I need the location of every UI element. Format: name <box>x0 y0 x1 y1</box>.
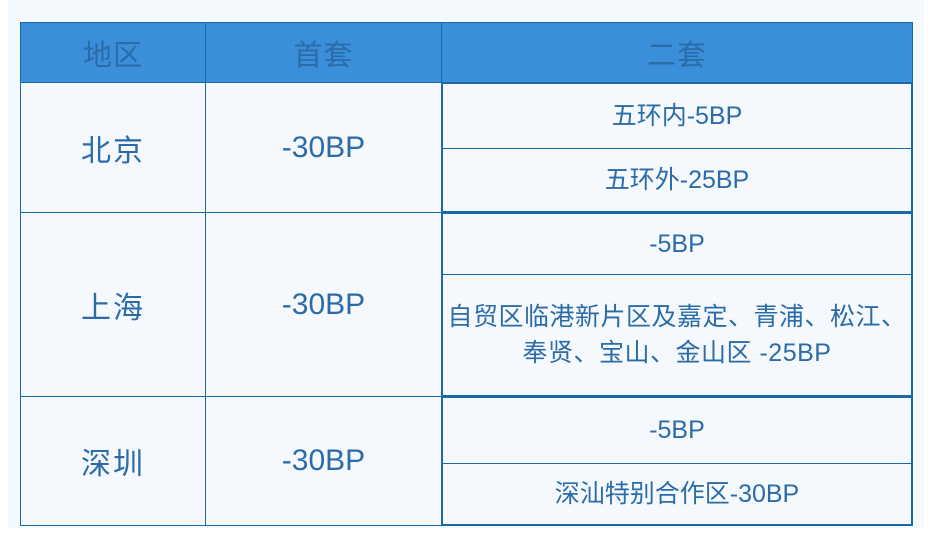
sub-row: 五环内-5BP <box>443 84 912 149</box>
sub-table-shenzhen: -5BP 深汕特别合作区-30BP <box>442 397 912 525</box>
sub-cell-beijing-inside-5th-ring: 五环内-5BP <box>443 84 912 149</box>
sub-cell-shenzhen-shenshan-zone: 深汕特别合作区-30BP <box>443 464 912 525</box>
table-header-row: 地区 首套 二套 <box>21 23 913 83</box>
table-row: 深圳 -30BP -5BP 深汕特别合作区-30BP <box>21 397 913 526</box>
sub-row: 深汕特别合作区-30BP <box>443 464 912 525</box>
sub-cell-shanghai-general: -5BP <box>443 214 912 275</box>
sub-row: 五环外-25BP <box>443 149 912 212</box>
cell-region-shanghai: 上海 <box>21 213 206 397</box>
table-body: 北京 -30BP 五环内-5BP 五环外-25BP 上海 -30BP <box>21 83 913 526</box>
table-header: 地区 首套 二套 <box>21 23 913 83</box>
cell-first-home-beijing: -30BP <box>206 83 442 213</box>
cell-second-home-beijing: 五环内-5BP 五环外-25BP <box>442 83 913 213</box>
cell-region-shenzhen: 深圳 <box>21 397 206 526</box>
sub-table-shanghai: -5BP 自贸区临港新片区及嘉定、青浦、松江、奉贤、宝山、金山区 -25BP <box>442 213 912 396</box>
cell-first-home-shenzhen: -30BP <box>206 397 442 526</box>
sub-cell-beijing-outside-5th-ring: 五环外-25BP <box>443 149 912 212</box>
table-row: 北京 -30BP 五环内-5BP 五环外-25BP <box>21 83 913 213</box>
cell-second-home-shanghai: -5BP 自贸区临港新片区及嘉定、青浦、松江、奉贤、宝山、金山区 -25BP <box>442 213 913 397</box>
column-header-region: 地区 <box>21 23 206 83</box>
table-row: 上海 -30BP -5BP 自贸区临港新片区及嘉定、青浦、松江、奉贤、宝山、金山… <box>21 213 913 397</box>
sub-cell-shenzhen-general: -5BP <box>443 398 912 464</box>
page-root: 地区 首套 二套 北京 -30BP 五环内-5BP 五环外-25BP <box>0 0 932 538</box>
sub-cell-shanghai-districts: 自贸区临港新片区及嘉定、青浦、松江、奉贤、宝山、金山区 -25BP <box>443 275 912 396</box>
sub-row: -5BP <box>443 398 912 464</box>
cell-second-home-shenzhen: -5BP 深汕特别合作区-30BP <box>442 397 913 526</box>
sub-row: -5BP <box>443 214 912 275</box>
column-header-second-home: 二套 <box>442 23 913 83</box>
cell-first-home-shanghai: -30BP <box>206 213 442 397</box>
column-header-first-home: 首套 <box>206 23 442 83</box>
sub-row: 自贸区临港新片区及嘉定、青浦、松江、奉贤、宝山、金山区 -25BP <box>443 275 912 396</box>
sub-table-beijing: 五环内-5BP 五环外-25BP <box>442 83 912 212</box>
mortgage-rate-table: 地区 首套 二套 北京 -30BP 五环内-5BP 五环外-25BP <box>20 22 913 526</box>
cell-region-beijing: 北京 <box>21 83 206 213</box>
